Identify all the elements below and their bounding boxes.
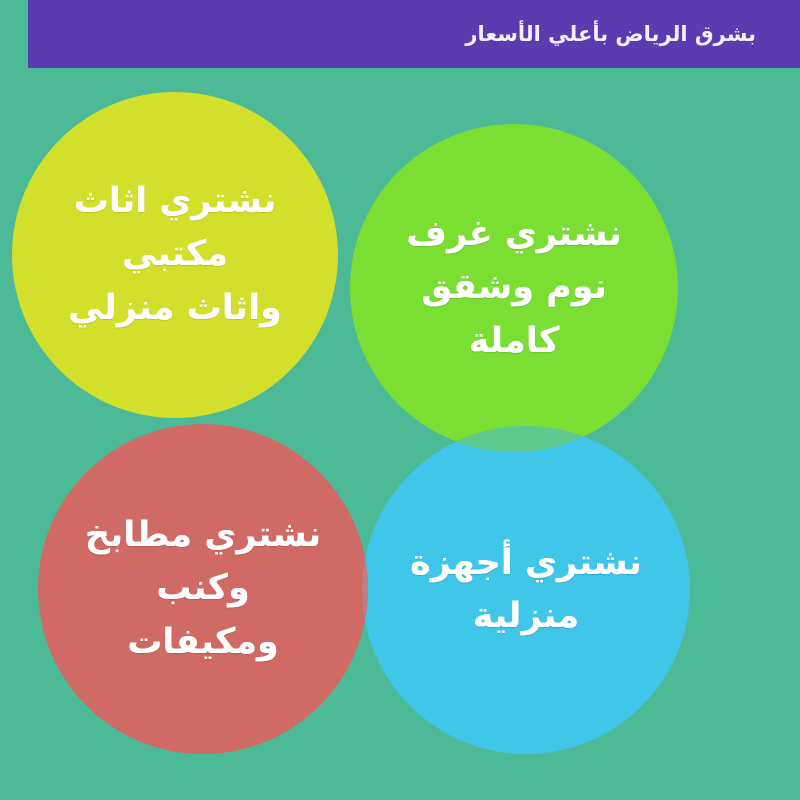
poster-canvas: بشرق الرياض بأعلي الأسعار نشتري اثاث مكت…: [0, 0, 800, 800]
circle-appliances-textlayer: نشتري أجهزة منزلية: [362, 426, 690, 754]
header-banner-text: بشرق الرياض بأعلي الأسعار: [465, 22, 756, 46]
circle-bedrooms-label-top: نشتري غرف نوم وشقق كاملة: [390, 208, 637, 368]
circle-office-furniture-label-top: نشتري اثاث مكتبي واثاث منزلي: [52, 175, 298, 335]
circle-kitchens-textlayer: نشتري مطابخ وكنب ومكيفات: [38, 424, 368, 754]
circle-kitchens-label-top: نشتري مطابخ وكنب ومكيفات: [69, 509, 337, 669]
header-banner: بشرق الرياض بأعلي الأسعار: [28, 0, 800, 68]
circle-office-furniture-textlayer: نشتري اثاث مكتبي واثاث منزلي: [12, 92, 338, 418]
circle-bedrooms-textlayer: نشتري غرف نوم وشقق كاملة: [350, 124, 678, 452]
circle-appliances-label-top: نشتري أجهزة منزلية: [394, 537, 658, 643]
